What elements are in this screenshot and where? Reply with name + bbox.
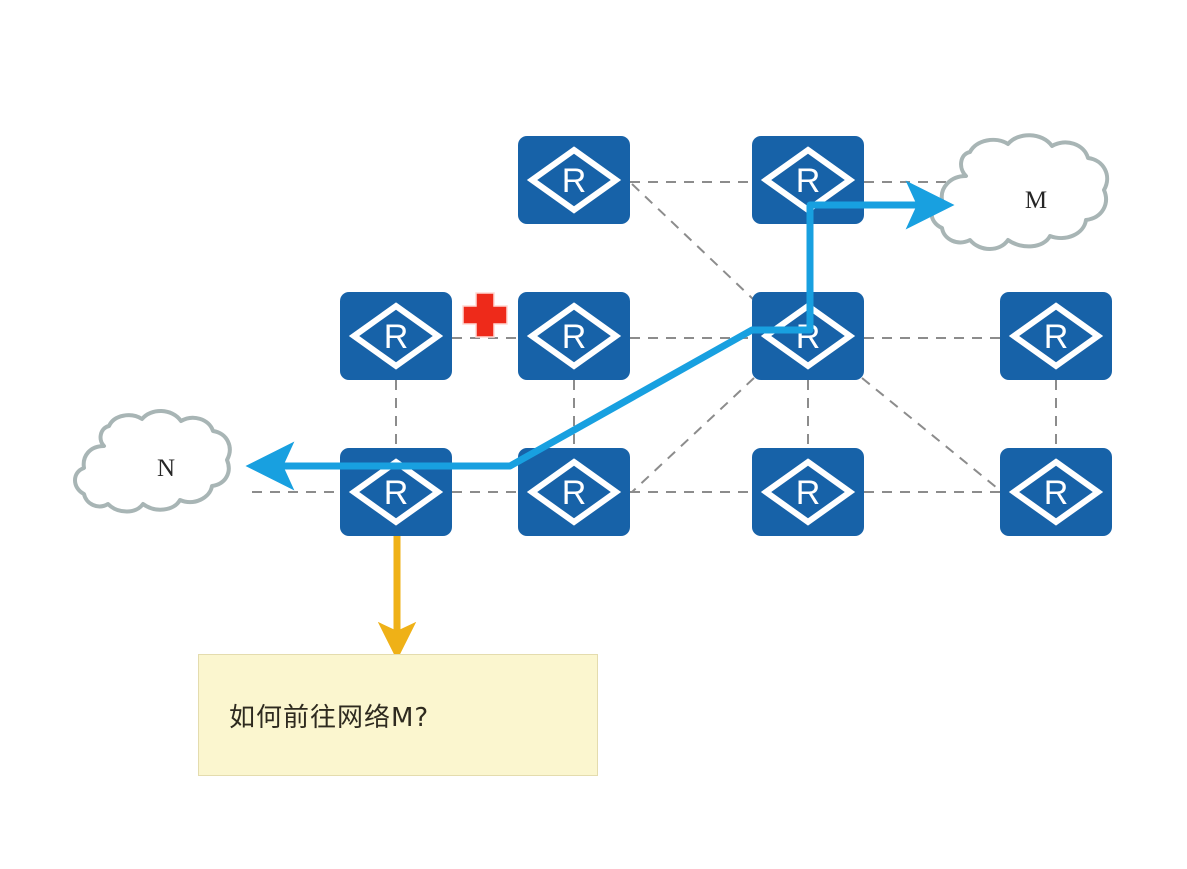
diagram-canvas: M N R R R R R R [0,0,1187,869]
active-traffic-path[interactable] [272,205,928,466]
question-callout-text: 如何前往网络M? [199,697,429,734]
question-callout[interactable]: 如何前往网络M? [198,654,598,776]
broken-link-marker[interactable] [463,293,507,337]
